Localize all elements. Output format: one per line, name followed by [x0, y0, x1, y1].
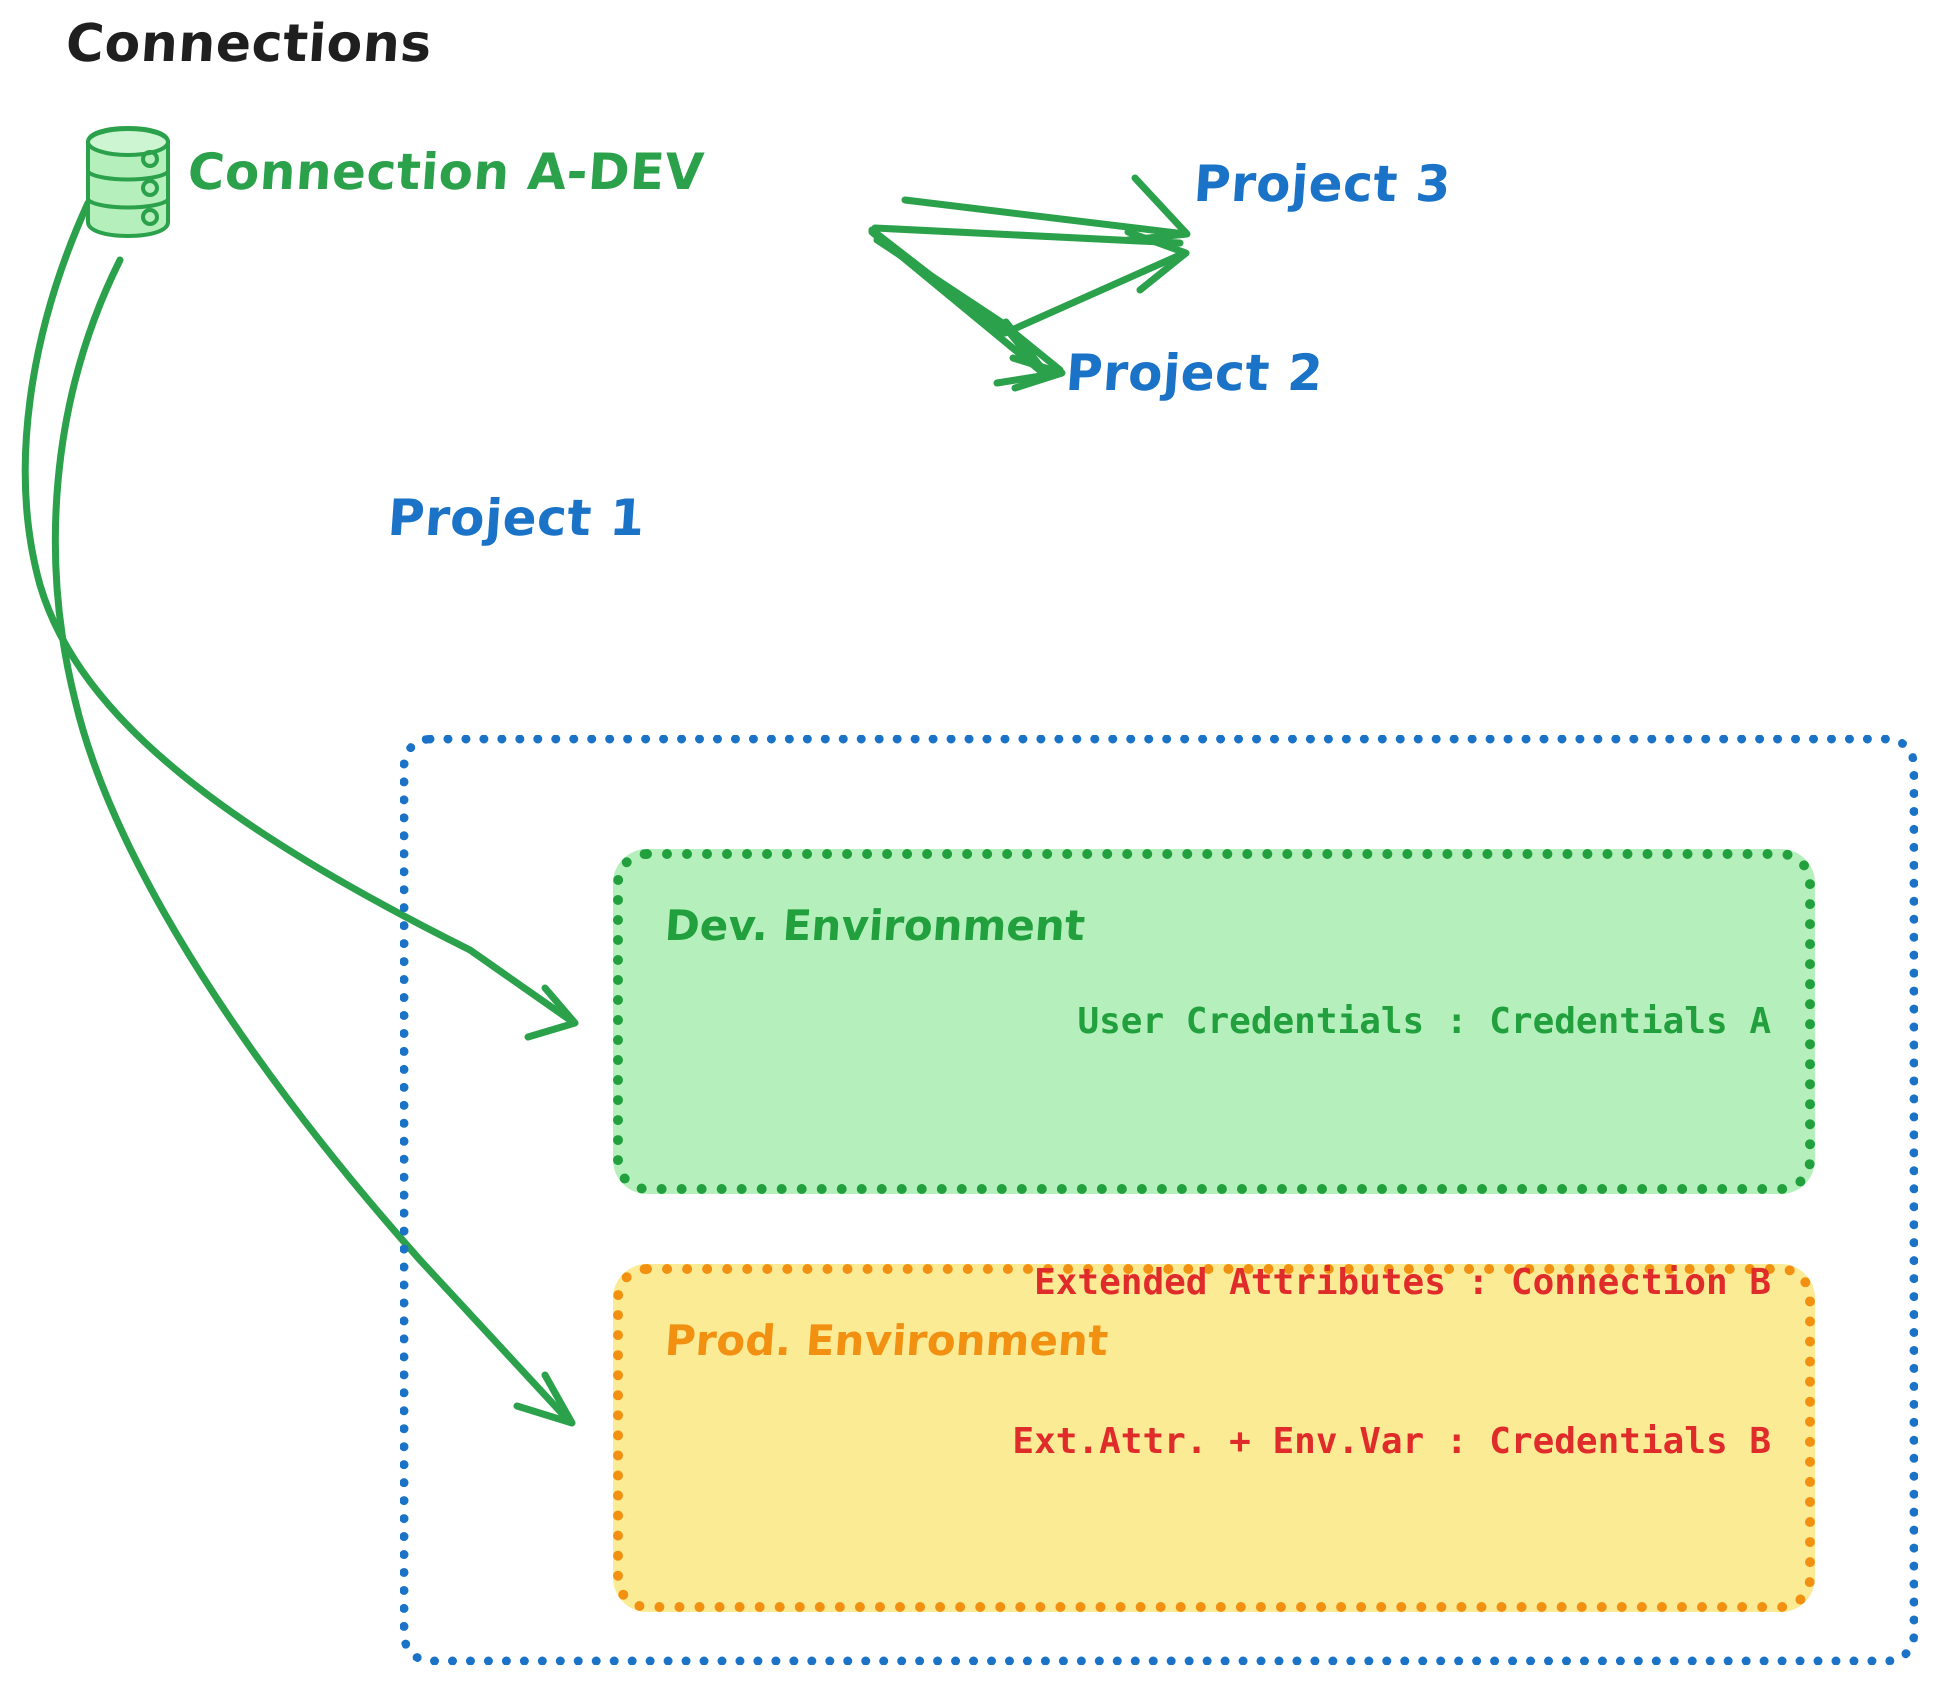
edge-conn-to-project2-lower	[877, 240, 1062, 388]
edge-conn-to-project3	[875, 178, 1187, 243]
dev-credentials-text: User Credentials : Credentials A	[1077, 995, 1771, 1048]
project-3-label[interactable]: Project 3	[1192, 155, 1453, 213]
edge-conn-to-project2	[872, 232, 1047, 383]
dev-environment-box[interactable]: Dev. Environment User Credentials : Cred…	[613, 849, 1815, 1194]
prod-ext-attr-envvar-text: Ext.Attr. + Env.Var : Credentials B	[1012, 1415, 1771, 1468]
prod-environment-attributes: Extended Attributes : Connection B Ext.A…	[1012, 1150, 1771, 1574]
edge-conn-to-project3-lower	[872, 230, 1186, 333]
prod-environment-box[interactable]: Prod. Environment Extended Attributes : …	[613, 1264, 1815, 1612]
project-1-container: Dev. Environment User Credentials : Cred…	[400, 735, 1918, 1665]
diagram-canvas: Connections Connection A-DEV Project 3 P…	[0, 0, 1938, 1691]
dev-environment-title: Dev. Environment	[663, 901, 1086, 950]
connection-a-dev-label[interactable]: Connection A-DEV	[186, 143, 706, 201]
project-2-label[interactable]: Project 2	[1064, 344, 1325, 402]
page-title: Connections	[64, 14, 434, 74]
database-cylinder-icon	[82, 124, 174, 240]
project-1-label[interactable]: Project 1	[386, 489, 647, 547]
dev-environment-attributes: User Credentials : Credentials A	[1077, 889, 1771, 1154]
prod-extended-attributes-text: Extended Attributes : Connection B	[1012, 1256, 1771, 1309]
